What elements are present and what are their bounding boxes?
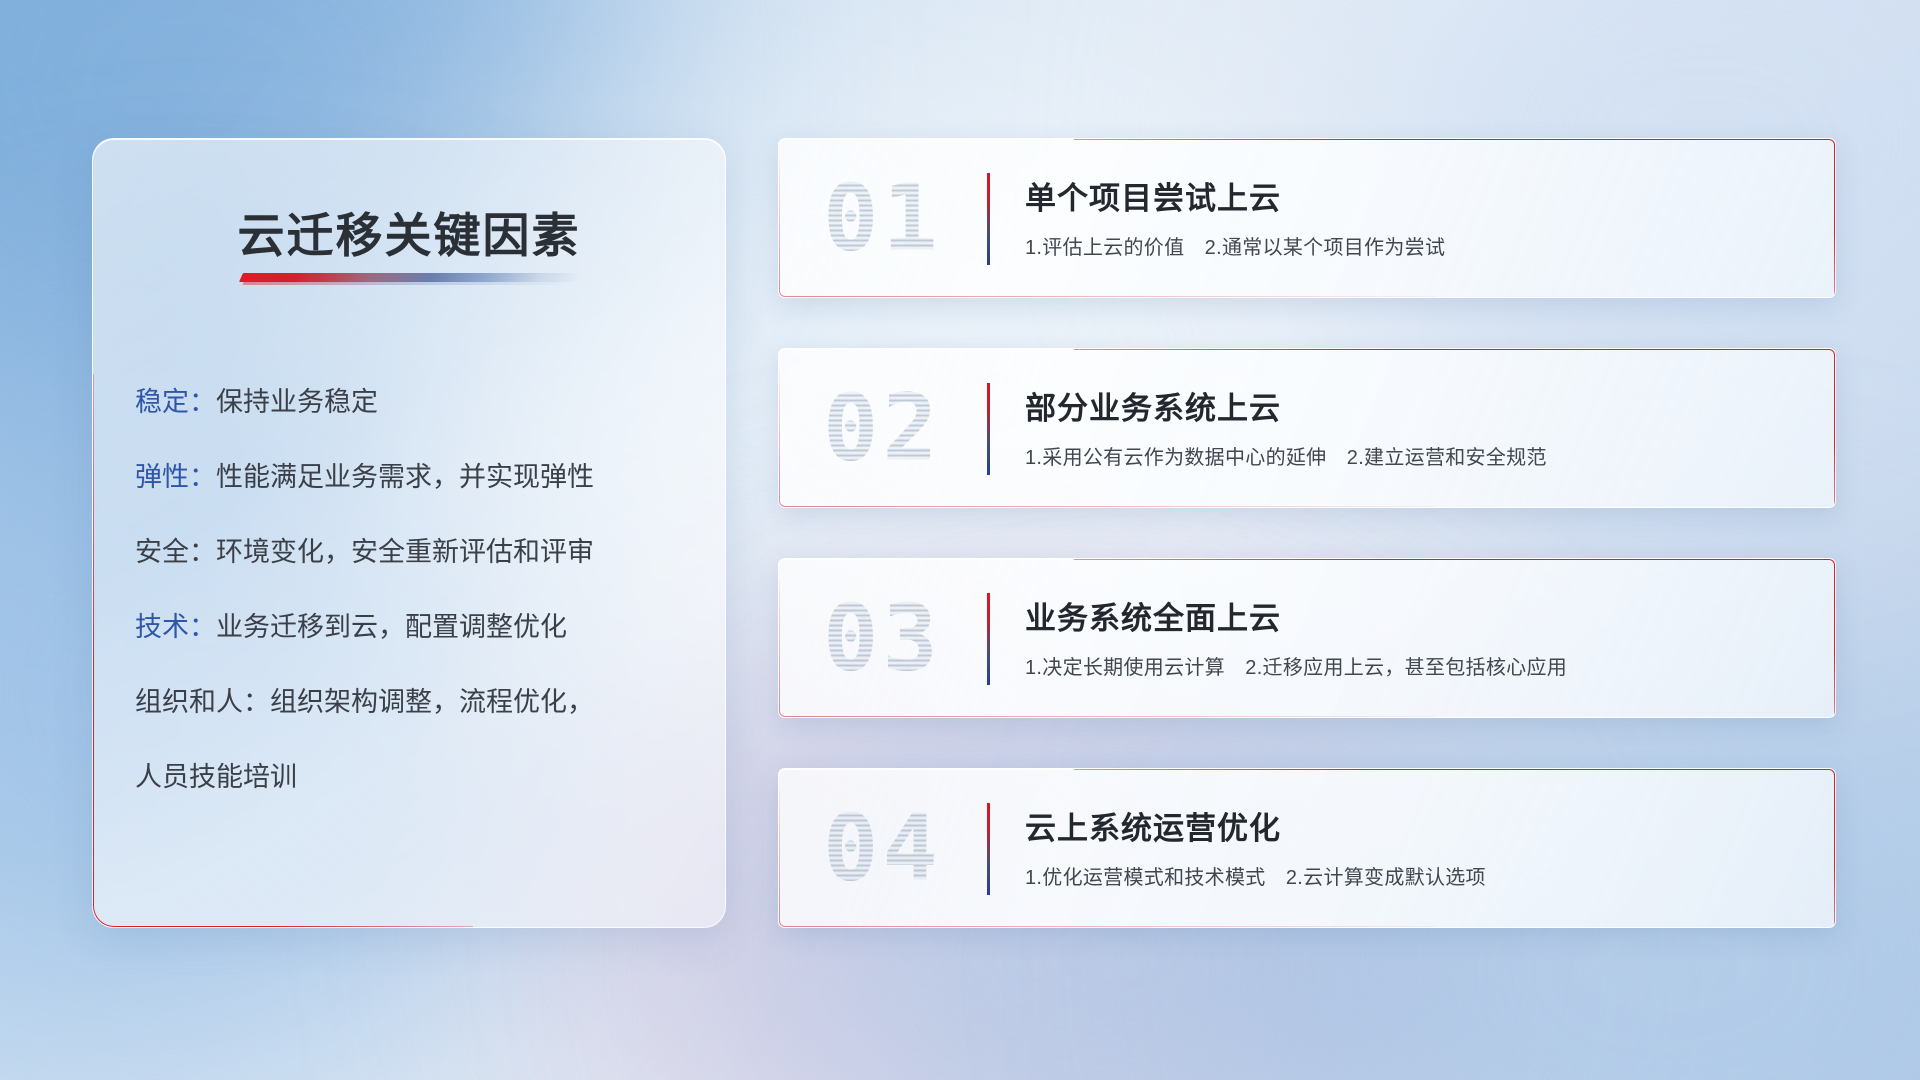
step-subtitle-03: 1.决定长期使用云计算 2.迁移应用上云，甚至包括核心应用 bbox=[1025, 651, 1567, 680]
key-factor-text: 组织架构调整，流程优化， bbox=[270, 687, 594, 717]
slide-stage: 云迁移关键因素 稳定：保持业务稳定弹性：性能满足业务需求，并实现弹性安全：环境变… bbox=[0, 0, 1920, 1080]
step-card-04[interactable]: 04 04 云上系统运营优化 1.优化运营模式和技术模式 2.云计算变成默认选项 bbox=[778, 768, 1836, 928]
key-factor-label: 安全： bbox=[135, 537, 216, 567]
key-factors-list: 稳定：保持业务稳定弹性：性能满足业务需求，并实现弹性安全：环境变化，安全重新评估… bbox=[135, 365, 695, 815]
step-number-03: 03 bbox=[823, 585, 942, 692]
title-underline-gradient bbox=[239, 273, 583, 282]
step-number-04: 04 bbox=[823, 795, 942, 902]
step-card-03[interactable]: 03 03 业务系统全面上云 1.决定长期使用云计算 2.迁移应用上云，甚至包括… bbox=[778, 558, 1836, 718]
title-underline-shadow bbox=[242, 282, 573, 285]
step-divider-04 bbox=[987, 803, 990, 895]
step-title-02: 部分业务系统上云 bbox=[1025, 383, 1281, 428]
key-factor-line: 弹性：性能满足业务需求，并实现弹性 bbox=[135, 440, 695, 515]
key-factor-line: 组织和人：组织架构调整，流程优化， bbox=[135, 665, 695, 740]
step-card-02[interactable]: 02 02 部分业务系统上云 1.采用公有云作为数据中心的延伸 2.建立运营和安… bbox=[778, 348, 1836, 508]
key-factor-text: 人员技能培训 bbox=[135, 762, 297, 792]
key-factor-line: 人员技能培训 bbox=[135, 740, 695, 815]
step-divider-02 bbox=[987, 383, 990, 475]
step-subtitle-02: 1.采用公有云作为数据中心的延伸 2.建立运营和安全规范 bbox=[1025, 441, 1547, 470]
step-number-01: 01 bbox=[823, 165, 942, 272]
step-title-01: 单个项目尝试上云 bbox=[1025, 173, 1281, 218]
key-factor-label: 稳定： bbox=[135, 387, 216, 417]
step-title-04: 云上系统运营优化 bbox=[1025, 803, 1281, 848]
step-subtitle-04: 1.优化运营模式和技术模式 2.云计算变成默认选项 bbox=[1025, 861, 1486, 890]
key-factor-label: 组织和人： bbox=[135, 687, 270, 717]
key-factor-line: 技术：业务迁移到云，配置调整优化 bbox=[135, 590, 695, 665]
key-factor-line: 稳定：保持业务稳定 bbox=[135, 365, 695, 440]
step-card-01[interactable]: 01 01 单个项目尝试上云 1.评估上云的价值 2.通常以某个项目作为尝试 bbox=[778, 138, 1836, 298]
key-factors-panel: 云迁移关键因素 稳定：保持业务稳定弹性：性能满足业务需求，并实现弹性安全：环境变… bbox=[92, 138, 726, 928]
key-factor-label: 弹性： bbox=[135, 462, 216, 492]
key-factor-line: 安全：环境变化，安全重新评估和评审 bbox=[135, 515, 695, 590]
key-factor-text: 性能满足业务需求，并实现弹性 bbox=[216, 462, 594, 492]
key-factor-label: 技术： bbox=[135, 612, 216, 642]
step-divider-03 bbox=[987, 593, 990, 685]
page-title: 云迁移关键因素 bbox=[93, 197, 725, 266]
key-factor-text: 环境变化，安全重新评估和评审 bbox=[216, 537, 594, 567]
step-subtitle-01: 1.评估上云的价值 2.通常以某个项目作为尝试 bbox=[1025, 231, 1445, 260]
step-title-03: 业务系统全面上云 bbox=[1025, 593, 1281, 638]
step-divider-01 bbox=[987, 173, 990, 265]
step-number-02: 02 bbox=[823, 375, 942, 482]
key-factor-text: 业务迁移到云，配置调整优化 bbox=[216, 612, 567, 642]
key-factor-text: 保持业务稳定 bbox=[216, 387, 378, 417]
